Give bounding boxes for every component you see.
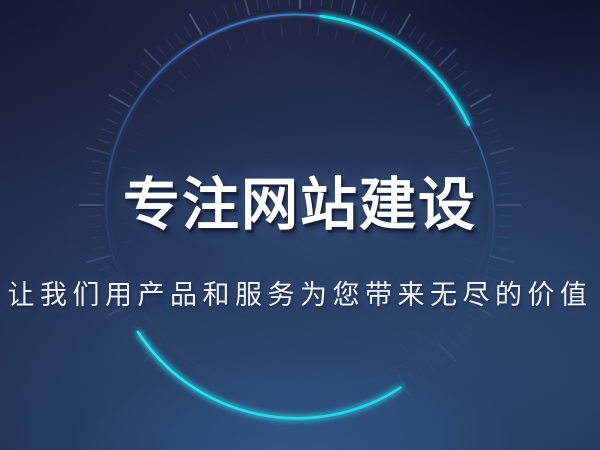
hero-banner: 专注网站建设 让我们用产品和服务为您带来无尽的价值 — [0, 0, 600, 450]
banner-headline: 专注网站建设 — [0, 168, 600, 242]
banner-subheadline: 让我们用产品和服务为您带来无尽的价值 — [0, 276, 600, 314]
banner-copy: 专注网站建设 让我们用产品和服务为您带来无尽的价值 — [0, 0, 600, 450]
